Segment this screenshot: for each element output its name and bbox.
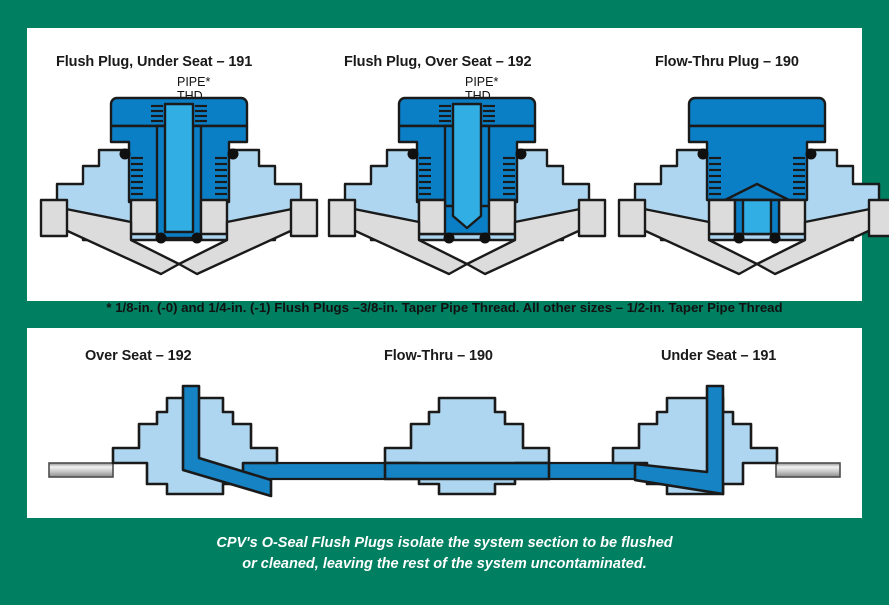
flow-gap-center (743, 200, 771, 234)
figure-title-over-seat-192: Flush Plug, Over Seat – 192 (344, 54, 532, 70)
system-title-flow-thru-190: Flow-Thru – 190 (384, 348, 493, 364)
port-flange-left (619, 200, 645, 236)
port-flange-right (579, 200, 605, 236)
port-flange-right (869, 200, 889, 236)
valve-diagram-flow-thru-190 (617, 88, 889, 288)
seat-block-left (419, 200, 445, 234)
bottom-system-panel: Over Seat – 192 Flow-Thru – 190 Under Se… (27, 328, 862, 518)
seat-block-left (709, 200, 735, 234)
figure-title-under-seat-191: Flush Plug, Under Seat – 191 (56, 54, 252, 70)
system-title-under-seat-191: Under Seat – 191 (661, 348, 776, 364)
system-flow-schematic (27, 364, 862, 499)
port-flange-left (329, 200, 355, 236)
pipe-stub-right (776, 463, 840, 477)
top-diagram-panel: Flush Plug, Under Seat – 191 Flush Plug,… (27, 28, 862, 301)
port-flange-right (291, 200, 317, 236)
plug-bore (453, 104, 481, 228)
valve-diagram-over-seat-192 (327, 88, 607, 288)
seat-block-right (779, 200, 805, 234)
valve-diagram-under-seat-191 (39, 88, 319, 288)
pipe-stub-left (49, 463, 113, 477)
system-valve-over-seat-192 (113, 386, 277, 496)
figure-title-flow-thru-190: Flow-Thru Plug – 190 (655, 54, 799, 70)
seat-block-left (131, 200, 157, 234)
plug-bore (165, 104, 193, 232)
system-valve-under-seat-191 (613, 386, 777, 494)
port-flange-left (41, 200, 67, 236)
plug-head (689, 98, 825, 126)
seat-block-right (201, 200, 227, 234)
caption-line-2: or cleaned, leaving the rest of the syst… (0, 554, 889, 575)
flow-path (385, 463, 549, 479)
footnote-thread-sizes: * 1/8-in. (-0) and 1/4-in. (-1) Flush Pl… (27, 300, 862, 315)
system-title-over-seat-192: Over Seat – 192 (85, 348, 192, 364)
seat-block-right (489, 200, 515, 234)
system-valve-flow-thru-190 (385, 398, 549, 494)
caption-block: CPV's O-Seal Flush Plugs isolate the sys… (0, 533, 889, 574)
caption-line-1: CPV's O-Seal Flush Plugs isolate the sys… (0, 533, 889, 554)
